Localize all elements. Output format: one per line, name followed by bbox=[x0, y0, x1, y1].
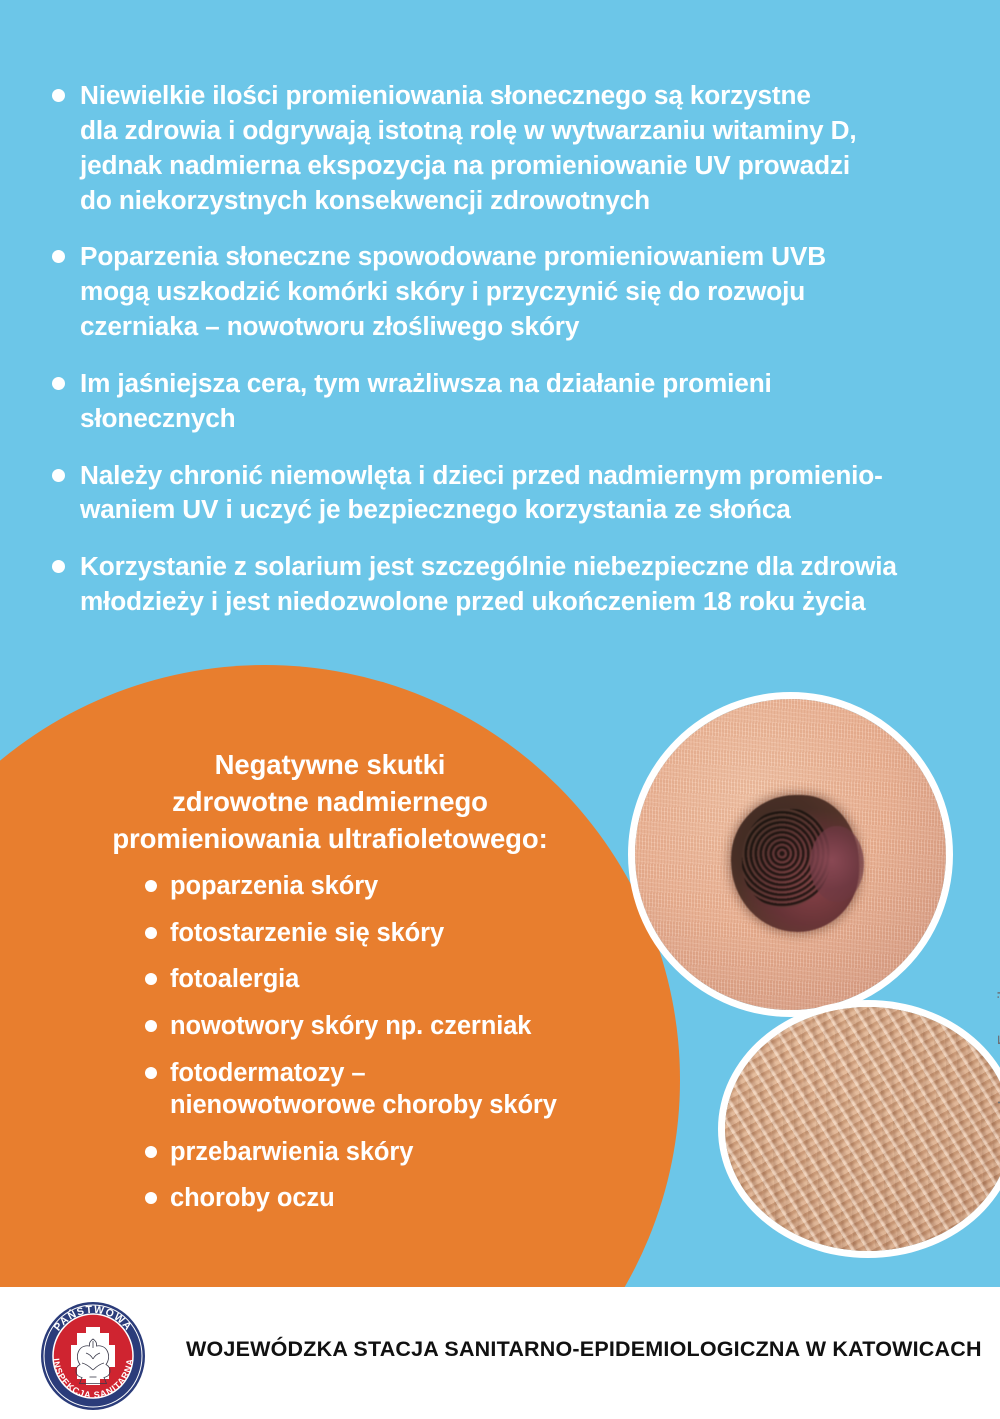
wrinkled-skin-texture bbox=[718, 1000, 1000, 1258]
aged-skin-photo bbox=[718, 1000, 1000, 1258]
bullet-dot-icon bbox=[52, 469, 65, 482]
effect-text: fotoalergia bbox=[170, 963, 299, 996]
bullet-dot-icon bbox=[145, 973, 157, 985]
list-item: przebarwienia skóry bbox=[145, 1136, 665, 1169]
circle-content: Negatywne skutki zdrowotne nadmiernego p… bbox=[0, 665, 680, 1295]
bullet-dot-icon bbox=[145, 880, 157, 892]
list-item: nowotwory skóry np. czerniak bbox=[145, 1010, 665, 1043]
top-bullet-text: Poparzenia słoneczne spowodowane promien… bbox=[80, 239, 826, 344]
list-item: fotodermatozy – nienowotworowe choroby s… bbox=[145, 1057, 665, 1122]
footer-organization-name: WOJEWÓDZKA STACJA SANITARNO-EPIDEMIOLOGI… bbox=[186, 1337, 982, 1362]
effect-text: fotodermatozy – nienowotworowe choroby s… bbox=[170, 1057, 557, 1122]
top-bullet-text: Korzystanie z solarium jest szczególnie … bbox=[80, 549, 897, 619]
bullet-dot-icon bbox=[52, 560, 65, 573]
top-bullet-text: Im jaśniejsza cera, tym wrażliwsza na dz… bbox=[80, 366, 772, 436]
top-bullet-text: Niewielkie ilości promieniowania słonecz… bbox=[80, 78, 856, 217]
list-item: poparzenia skóry bbox=[145, 870, 665, 903]
list-item: Niewielkie ilości promieniowania słonecz… bbox=[52, 78, 957, 217]
circle-heading: Negatywne skutki zdrowotne nadmiernego p… bbox=[0, 747, 660, 858]
bullet-dot-icon bbox=[52, 250, 65, 263]
bullet-dot-icon bbox=[145, 1067, 157, 1079]
bullet-dot-icon bbox=[145, 927, 157, 939]
bullet-dot-icon bbox=[52, 377, 65, 390]
mole-lesion bbox=[731, 795, 859, 932]
image-credit: Image: Freepik.com bbox=[994, 947, 1000, 1104]
list-item: choroby oczu bbox=[145, 1182, 665, 1215]
effect-text: przebarwienia skóry bbox=[170, 1136, 413, 1169]
list-item: Należy chronić niemowlęta i dzieci przed… bbox=[52, 458, 957, 528]
bullet-dot-icon bbox=[52, 89, 65, 102]
effect-text: nowotwory skóry np. czerniak bbox=[170, 1010, 531, 1043]
list-item: Korzystanie z solarium jest szczególnie … bbox=[52, 549, 957, 619]
bullet-dot-icon bbox=[145, 1146, 157, 1158]
bullet-dot-icon bbox=[145, 1020, 157, 1032]
sanitary-inspection-logo: PAŃSTWOWA INSPEKCJA SANITARNA bbox=[38, 1301, 148, 1411]
effect-text: poparzenia skóry bbox=[170, 870, 378, 903]
list-item: fotostarzenie się skóry bbox=[145, 917, 665, 950]
effect-text: choroby oczu bbox=[170, 1182, 335, 1215]
list-item: Poparzenia słoneczne spowodowane promien… bbox=[52, 239, 957, 344]
top-bullet-text: Należy chronić niemowlęta i dzieci przed… bbox=[80, 458, 883, 528]
top-bullet-list: Niewielkie ilości promieniowania słonecz… bbox=[52, 78, 957, 619]
list-item: fotoalergia bbox=[145, 963, 665, 996]
footer-bar: PAŃSTWOWA INSPEKCJA SANITARNA WOJEWÓDZKA… bbox=[0, 1287, 1000, 1419]
list-item: Im jaśniejsza cera, tym wrażliwsza na dz… bbox=[52, 366, 957, 436]
effect-text: fotostarzenie się skóry bbox=[170, 917, 444, 950]
negative-effects-list: poparzenia skóry fotostarzenie się skóry… bbox=[145, 870, 665, 1215]
infographic-poster: Niewielkie ilości promieniowania słonecz… bbox=[0, 0, 1000, 1419]
bullet-dot-icon bbox=[145, 1192, 157, 1204]
